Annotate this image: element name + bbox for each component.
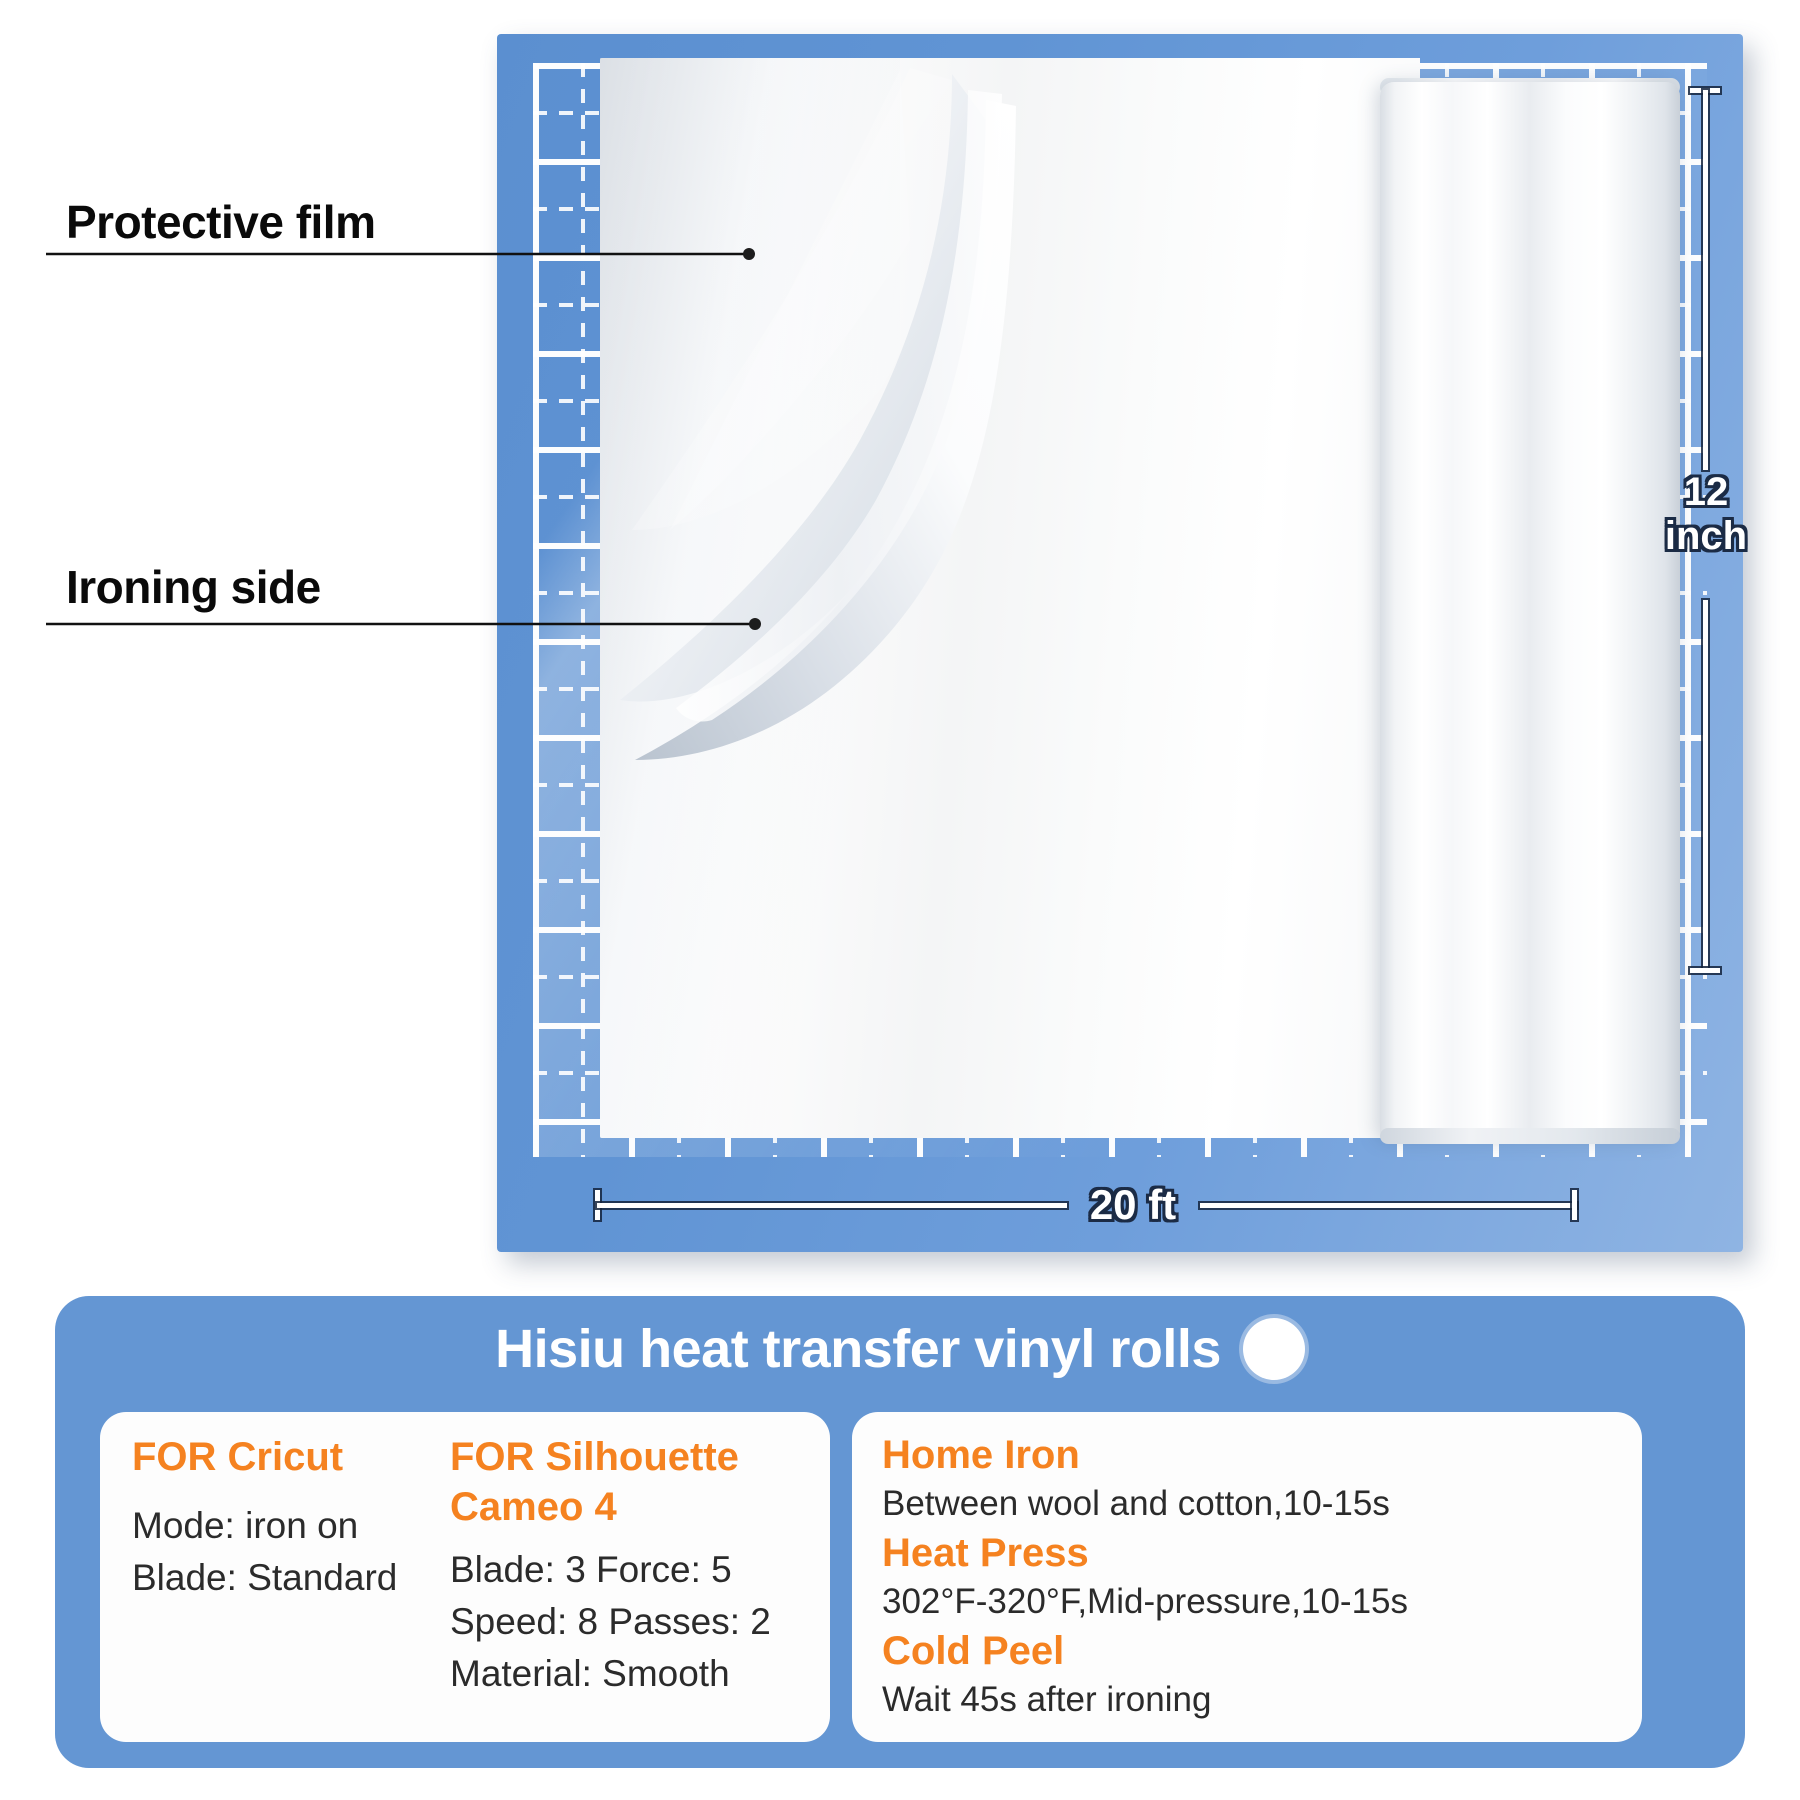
- cricut-heading: FOR Cricut: [132, 1432, 462, 1482]
- silhouette-blade-force-line: Blade: 3 Force: 5: [450, 1544, 790, 1596]
- dimension-width-line-left: [597, 1203, 1067, 1208]
- callout-label-protective-film: Protective film: [66, 195, 376, 249]
- vinyl-roll: [1380, 82, 1680, 1142]
- dimension-height-line-lower: [1703, 600, 1708, 970]
- vinyl-sheet-shading: [600, 58, 900, 1138]
- dimension-height-cap-bottom: [1690, 968, 1720, 973]
- dimension-height-label: 12 inch: [1660, 470, 1752, 558]
- home-iron-text: Between wool and cotton,10-15s: [882, 1480, 1622, 1528]
- cold-peel-heading: Cold Peel: [882, 1626, 1622, 1676]
- silhouette-speed-passes-line: Speed: 8 Passes: 2: [450, 1596, 790, 1648]
- callout-label-ironing-side: Ironing side: [66, 560, 321, 614]
- circle-icon: [1243, 1318, 1305, 1380]
- heat-press-text: 302°F-320°F,Mid-pressure,10-15s: [882, 1578, 1622, 1626]
- spec-panel-title-text: Hisiu heat transfer vinyl rolls: [495, 1318, 1221, 1380]
- vinyl-roll-bottom-edge: [1380, 1128, 1680, 1144]
- spec-panel-title: Hisiu heat transfer vinyl rolls: [55, 1318, 1745, 1380]
- home-iron-heading: Home Iron: [882, 1430, 1622, 1480]
- cricut-mode-line: Mode: iron on: [132, 1500, 462, 1552]
- silhouette-heading-line2: Cameo 4: [450, 1482, 790, 1532]
- cricut-settings-column: FOR Cricut Mode: iron on Blade: Standard: [132, 1432, 462, 1604]
- dimension-height-unit: inch: [1660, 514, 1752, 558]
- cricut-blade-line: Blade: Standard: [132, 1552, 462, 1604]
- application-instructions-card: Home Iron Between wool and cotton,10-15s…: [852, 1412, 1642, 1742]
- product-photo-scene: Protective film Ironing side 12 inch 20 …: [0, 0, 1800, 1270]
- silhouette-material-line: Material: Smooth: [450, 1648, 790, 1700]
- machine-settings-card: FOR Cricut Mode: iron on Blade: Standard…: [100, 1412, 830, 1742]
- dimension-width-label: 20 ft: [1063, 1183, 1203, 1227]
- heat-press-heading: Heat Press: [882, 1528, 1622, 1578]
- silhouette-settings-column: FOR Silhouette Cameo 4 Blade: 3 Force: 5…: [450, 1432, 790, 1700]
- grid-dash-vertical: [581, 63, 585, 1157]
- dimension-height-value: 12: [1660, 470, 1752, 514]
- dimension-width-cap-right: [1572, 1190, 1577, 1220]
- silhouette-heading-line1: FOR Silhouette: [450, 1432, 790, 1482]
- dimension-height-line-upper: [1703, 90, 1708, 470]
- cold-peel-text: Wait 45s after ironing: [882, 1676, 1622, 1724]
- application-instructions-column: Home Iron Between wool and cotton,10-15s…: [882, 1430, 1622, 1724]
- dimension-width-line-right: [1200, 1203, 1577, 1208]
